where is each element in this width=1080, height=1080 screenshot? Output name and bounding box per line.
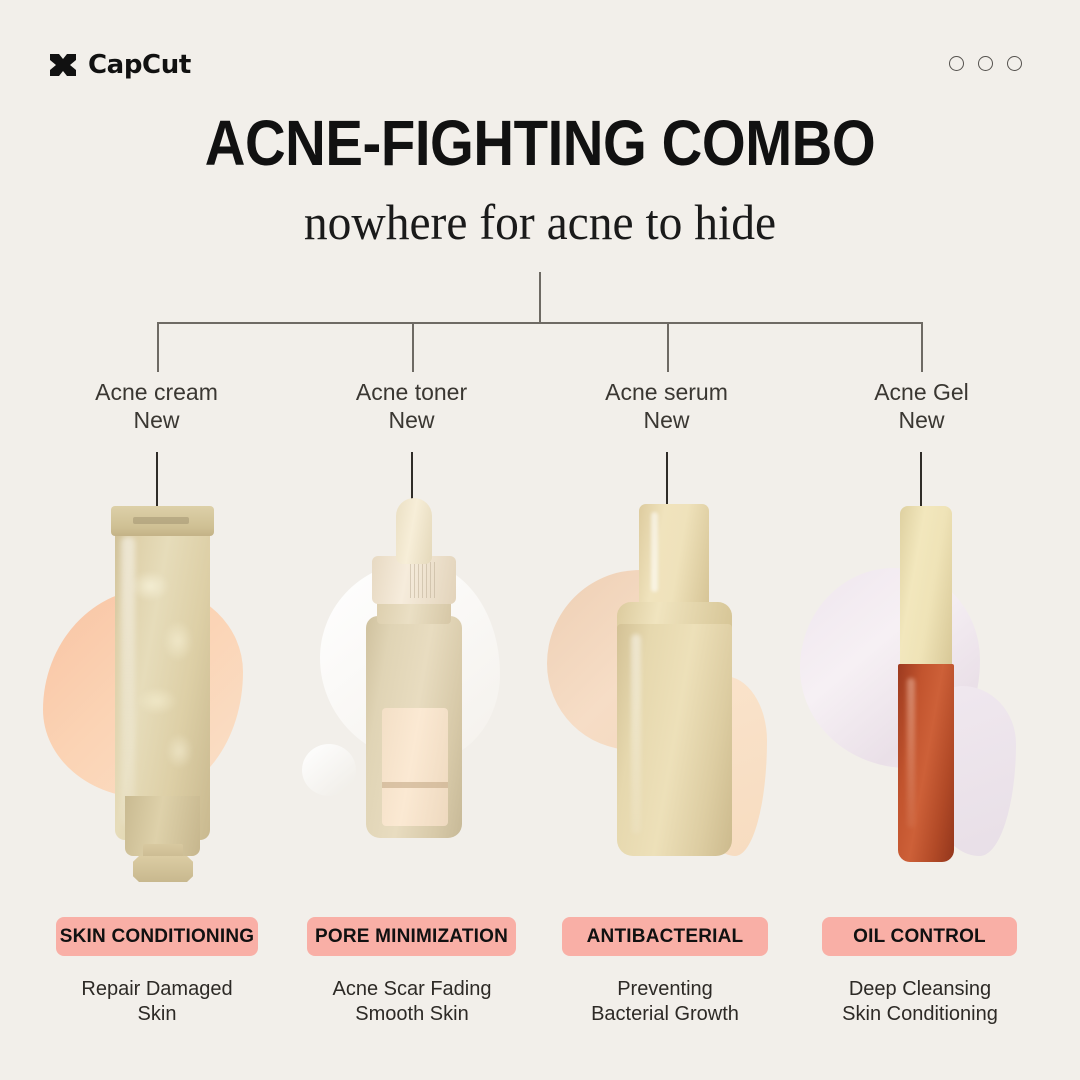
brand-logo[interactable]: CapCut [48, 50, 191, 80]
caption-4: Deep Cleansing Skin Conditioning [775, 977, 1065, 1027]
caption-2-line-2: Smooth Skin [267, 1002, 557, 1027]
caption-1-line-1: Repair Damaged [12, 977, 302, 1002]
gel-applicator-icon [794, 496, 1049, 876]
product-image-3[interactable] [539, 496, 794, 876]
poster-canvas: CapCut ACNE-FIGHTING COMBO nowhere for a… [0, 0, 1080, 1080]
tube-highlight [121, 536, 135, 826]
tube-texture [129, 556, 199, 806]
caption-1-line-2: Skin [12, 1002, 302, 1027]
column-title-1: Acne cream New [29, 378, 284, 434]
tree-drop-4 [921, 322, 923, 372]
column-title-2: Acne toner New [284, 378, 539, 434]
tree-horizontal-bar [157, 322, 923, 324]
column-title-4: Acne Gel New [794, 378, 1049, 434]
dropper-label [382, 708, 448, 826]
column-title-3: Acne serum New [539, 378, 794, 434]
badge-1[interactable]: SKIN CONDITIONING [56, 917, 258, 956]
tree-drop-1 [157, 322, 159, 372]
connector-tree [0, 272, 1080, 372]
tree-drop-3 [667, 322, 669, 372]
tube-cap [133, 856, 193, 882]
caption-1: Repair Damaged Skin [12, 977, 302, 1027]
window-controls[interactable] [949, 56, 1022, 71]
product-status-2: New [284, 406, 539, 434]
badge-3[interactable]: ANTIBACTERIAL [562, 917, 768, 956]
brand-name: CapCut [88, 50, 191, 80]
serum-body [617, 624, 732, 856]
dropper-bulb [396, 498, 432, 564]
page-subtitle: nowhere for acne to hide [27, 193, 1053, 251]
dropper-bottle-icon [284, 496, 539, 876]
white-cream-dot-icon [302, 744, 356, 796]
caption-3-line-2: Bacterial Growth [520, 1002, 810, 1027]
caption-3: Preventing Bacterial Growth [520, 977, 810, 1027]
caption-4-line-1: Deep Cleansing [775, 977, 1065, 1002]
capcut-bowtie-icon [48, 52, 78, 78]
gel-cap [900, 506, 952, 670]
tree-drop-2 [412, 322, 414, 372]
product-name-3: Acne serum [539, 378, 794, 406]
circle-icon-3[interactable] [1007, 56, 1022, 71]
product-status-4: New [794, 406, 1049, 434]
product-image-4[interactable] [794, 496, 1049, 876]
tube-crimp [111, 506, 214, 536]
serum-bottle-icon [539, 496, 794, 876]
product-name-2: Acne toner [284, 378, 539, 406]
page-title: ACNE-FIGHTING COMBO [65, 106, 1015, 180]
caption-2: Acne Scar Fading Smooth Skin [267, 977, 557, 1027]
product-name-4: Acne Gel [794, 378, 1049, 406]
caption-4-line-2: Skin Conditioning [775, 1002, 1065, 1027]
circle-icon-1[interactable] [949, 56, 964, 71]
product-name-1: Acne cream [29, 378, 284, 406]
tree-stem [539, 272, 541, 323]
product-status-3: New [539, 406, 794, 434]
badge-2[interactable]: PORE MINIMIZATION [307, 917, 516, 956]
serum-cap [639, 504, 709, 614]
caption-3-line-1: Preventing [520, 977, 810, 1002]
product-image-2[interactable] [284, 496, 539, 876]
product-status-1: New [29, 406, 284, 434]
caption-2-line-1: Acne Scar Fading [267, 977, 557, 1002]
badge-4[interactable]: OIL CONTROL [822, 917, 1017, 956]
gel-body [898, 664, 954, 862]
cream-tube-icon [29, 496, 284, 876]
product-image-1[interactable] [29, 496, 284, 876]
circle-icon-2[interactable] [978, 56, 993, 71]
